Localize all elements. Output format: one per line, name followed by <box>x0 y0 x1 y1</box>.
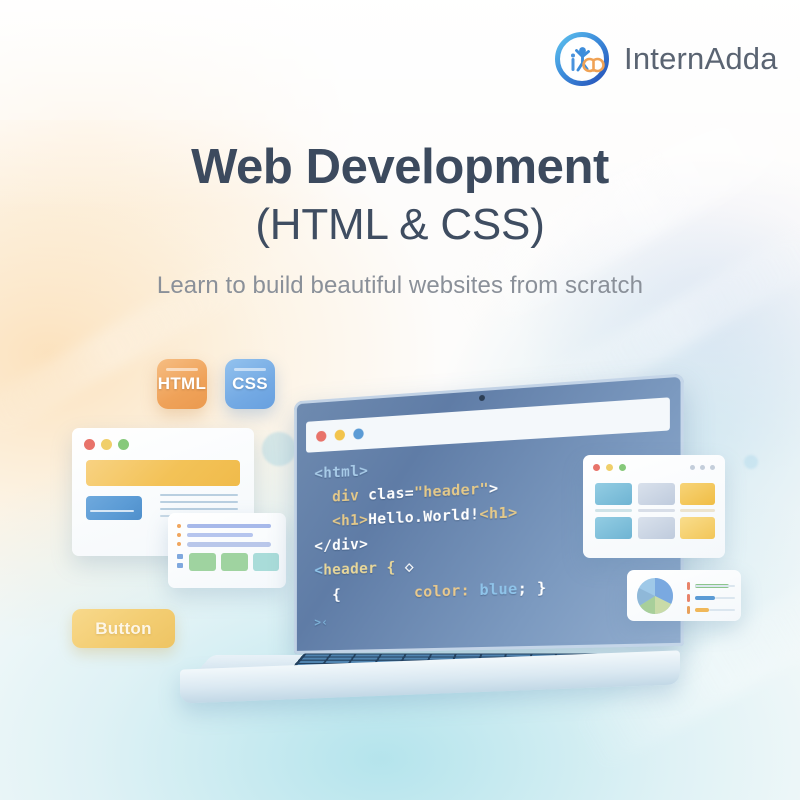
legend-dot-icon <box>687 606 690 614</box>
key <box>380 655 404 657</box>
grid-tile-caption <box>595 509 632 512</box>
legend-bar <box>695 608 709 612</box>
internadda-logo-icon <box>553 30 611 88</box>
legend-track <box>709 609 735 611</box>
badge-notch <box>166 368 198 371</box>
key <box>355 655 380 657</box>
grid-tile <box>638 517 675 539</box>
hero-text-block: Web Development (HTML & CSS) Learn to bu… <box>0 140 800 300</box>
key <box>330 655 355 657</box>
legend-bar <box>695 596 715 600</box>
poster-canvas: InternAdda Web Development (HTML & CSS) … <box>0 0 800 800</box>
key <box>327 658 352 660</box>
key <box>430 655 454 657</box>
grid-tile <box>638 483 675 505</box>
grid-tile <box>680 517 715 539</box>
code-token: <h1> <box>332 511 368 530</box>
badge-notch <box>234 368 266 371</box>
legend-track <box>715 597 735 599</box>
minimize-dot-icon[interactable] <box>335 429 345 440</box>
right-grid-mockup[interactable] <box>583 455 725 558</box>
window-controls <box>84 439 129 450</box>
window-controls <box>593 464 626 471</box>
grid-tile <box>595 517 632 539</box>
code-token: <h1> <box>479 503 517 523</box>
maximize-dot-icon <box>118 439 129 450</box>
key <box>304 655 329 657</box>
key <box>378 658 403 660</box>
code-token: header { <box>323 558 404 579</box>
image-block <box>86 496 142 520</box>
key <box>456 655 480 657</box>
window-controls <box>316 428 363 442</box>
grid-tile-caption <box>680 509 715 512</box>
code-token: { <box>332 583 414 603</box>
maximize-dot-icon <box>619 464 626 471</box>
legend-dot-icon <box>687 594 690 602</box>
code-token: ; } <box>518 578 547 597</box>
code-token: < <box>314 562 323 580</box>
code-token: "header" <box>414 480 489 502</box>
grid-tile <box>595 483 632 505</box>
brand-logo[interactable]: InternAdda <box>553 30 778 88</box>
brand-name: InternAdda <box>624 41 778 77</box>
menu-dot-icon <box>690 465 695 470</box>
background-bokeh-3 <box>744 455 758 469</box>
button-chip-label: Button <box>95 619 152 639</box>
key <box>302 658 327 660</box>
code-token: clas= <box>368 484 414 504</box>
webcam-icon <box>479 395 485 401</box>
close-dot-icon <box>84 439 95 450</box>
menu-dot-icon <box>710 465 715 470</box>
code-token: > <box>489 479 499 498</box>
close-dot-icon[interactable] <box>316 431 326 442</box>
minimize-dot-icon <box>606 464 613 471</box>
minimize-dot-icon <box>101 439 112 450</box>
right-chart-mockup[interactable] <box>627 570 741 621</box>
code-token: Hello.World! <box>368 505 479 528</box>
code-token: </div> <box>314 535 368 555</box>
laptop-base <box>180 638 680 700</box>
button-chip[interactable]: Button <box>72 609 175 648</box>
image-block-line <box>90 510 134 512</box>
code-token: color: <box>414 581 480 601</box>
maximize-dot-icon[interactable] <box>353 428 363 439</box>
close-dot-icon <box>593 464 600 471</box>
page-title-line2: (HTML & CSS) <box>0 199 800 252</box>
legend-track <box>695 585 735 587</box>
key <box>405 655 429 657</box>
page-subtitle: Learn to build beautiful websites from s… <box>0 272 800 300</box>
code-token: >‹ <box>314 615 328 629</box>
pie-chart-icon <box>634 575 676 617</box>
menu-dot-icon <box>700 465 705 470</box>
code-token: ◇ <box>405 558 414 576</box>
legend-dot-icon <box>687 582 690 590</box>
code-token: div <box>332 486 368 505</box>
code-token: <html> <box>314 462 368 483</box>
code-token: blue <box>479 579 517 598</box>
overflow-menu-icon[interactable] <box>690 465 715 470</box>
grid-tile-caption <box>638 509 675 512</box>
key <box>299 661 324 663</box>
grid-tile <box>680 483 715 505</box>
key <box>353 658 378 660</box>
page-title-line1: Web Development <box>0 140 800 195</box>
